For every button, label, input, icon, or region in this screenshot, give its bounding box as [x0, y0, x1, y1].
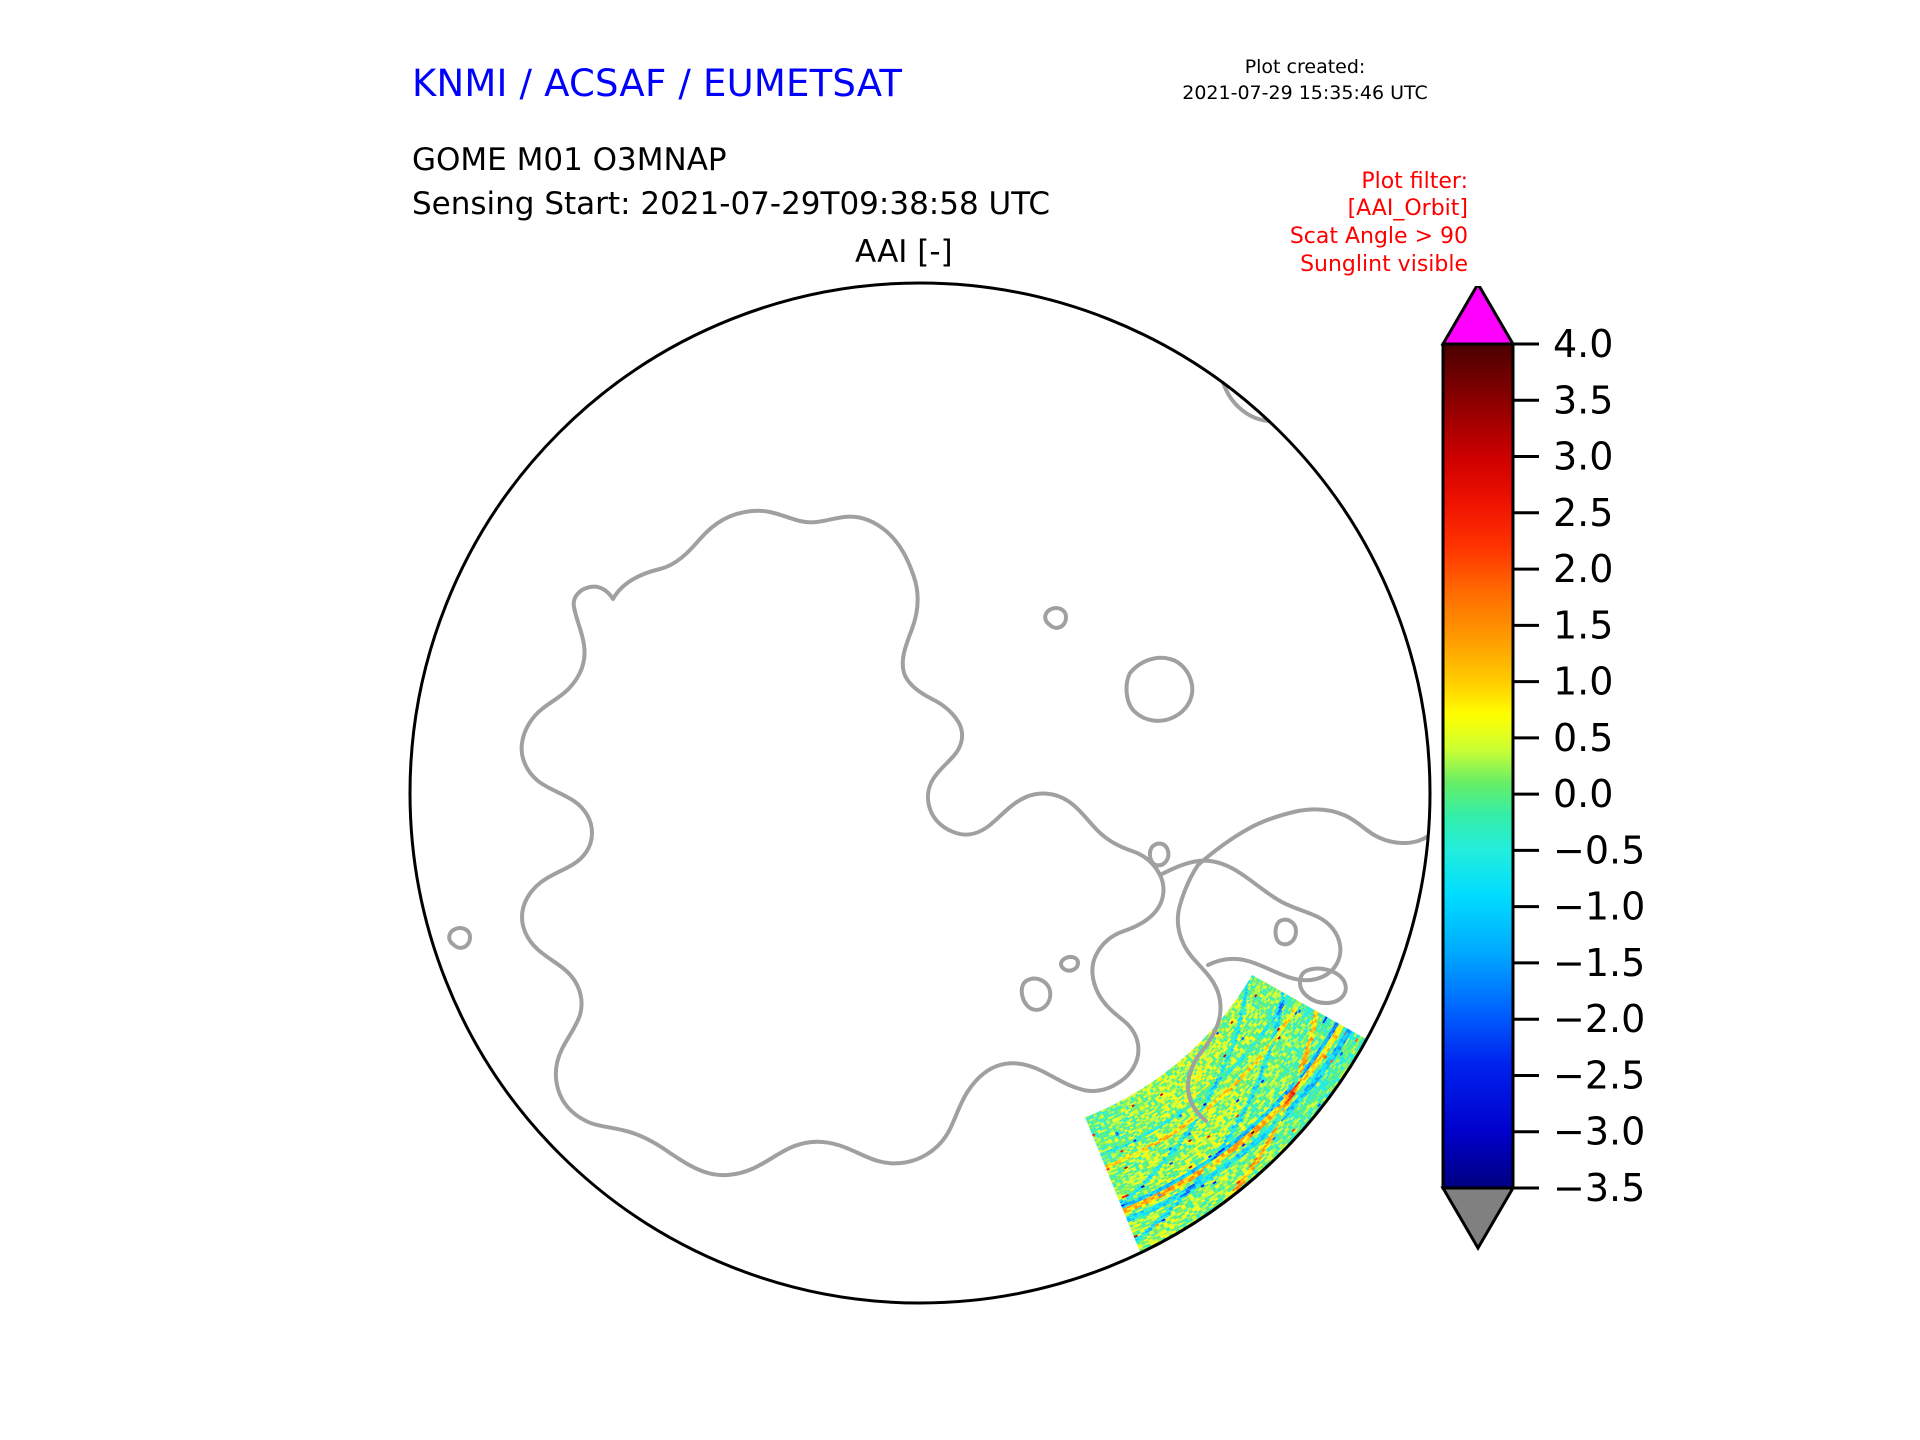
colorbar-tick-label: 4.0 [1553, 322, 1613, 366]
quantity-label: AAI [-] [855, 234, 953, 270]
coastline-tasmania [1127, 658, 1193, 721]
plot-filter-line-2: Scat Angle > 90 [1290, 224, 1468, 249]
product-label: GOME M01 O3MNAP [412, 142, 727, 178]
colorbar-over-arrow [1443, 286, 1513, 344]
data-swath [1085, 975, 1410, 1283]
colorbar-under-arrow [1443, 1188, 1513, 1248]
colorbar-tick-label: 0.0 [1553, 772, 1613, 816]
colorbar-tick-label: −2.5 [1553, 1053, 1645, 1097]
colorbar-tick-label: −1.0 [1553, 885, 1645, 929]
colorbar-tick-label: 1.5 [1553, 603, 1613, 647]
coastline-island-04 [1061, 957, 1078, 971]
plot-filter-line-1: [AAI_Orbit] [1348, 196, 1468, 221]
colorbar-tick-label: −3.5 [1553, 1166, 1645, 1210]
colorbar-tick-label: −3.0 [1553, 1110, 1645, 1154]
map-area [408, 281, 1432, 1305]
sensing-start-label: Sensing Start: 2021-07-29T09:38:58 UTC [412, 186, 1050, 222]
colorbar-tick-label: 3.0 [1553, 435, 1613, 479]
coastline-antarctica [522, 511, 1164, 1175]
colorbar-gradient [1443, 344, 1513, 1188]
page-title: KNMI / ACSAF / EUMETSAT [412, 62, 902, 105]
colorbar-tick-label: −1.5 [1553, 941, 1645, 985]
colorbar-ticks: 4.03.53.02.52.01.51.00.50.0−0.5−1.0−1.5−… [1513, 322, 1645, 1210]
colorbar-tick-label: 1.0 [1553, 660, 1613, 704]
plot-filter-line-3: Sunglint visible [1300, 252, 1468, 277]
plot-filter-line-0: Plot filter: [1361, 169, 1468, 194]
colorbar-tick-label: −2.0 [1553, 997, 1645, 1041]
coastline-new-zealand-south [1221, 333, 1326, 422]
coastline-island-02 [1276, 920, 1297, 945]
map-svg [408, 281, 1432, 1305]
colorbar-tick-label: −0.5 [1553, 828, 1645, 872]
coastline-falklands [623, 1241, 652, 1270]
colorbar-svg: 4.03.53.02.52.01.51.00.50.0−0.5−1.0−1.5−… [1440, 286, 1860, 1306]
coastline-antarctic-peninsula [1160, 861, 1340, 981]
plot-created-timestamp: 2021-07-29 15:35:46 UTC [1160, 82, 1450, 104]
colorbar-tick-label: 2.0 [1553, 547, 1613, 591]
coastline-island-06 [449, 928, 470, 948]
coastline-new-zealand-north [1303, 305, 1376, 379]
colorbar-tick-label: 0.5 [1553, 716, 1613, 760]
colorbar: 4.03.53.02.52.01.51.00.50.0−0.5−1.0−1.5−… [1440, 286, 1860, 1306]
colorbar-tick-label: 2.5 [1553, 491, 1613, 535]
coastline-island-07 [1045, 608, 1066, 628]
plot-canvas: KNMI / ACSAF / EUMETSAT Plot created: 20… [0, 0, 1920, 1440]
coastline-island-03 [1022, 979, 1051, 1010]
coastline-island-01 [1150, 844, 1168, 866]
plot-created-label: Plot created: [1160, 56, 1450, 78]
coastline-island-05 [1300, 969, 1346, 1003]
colorbar-tick-label: 3.5 [1553, 378, 1613, 422]
